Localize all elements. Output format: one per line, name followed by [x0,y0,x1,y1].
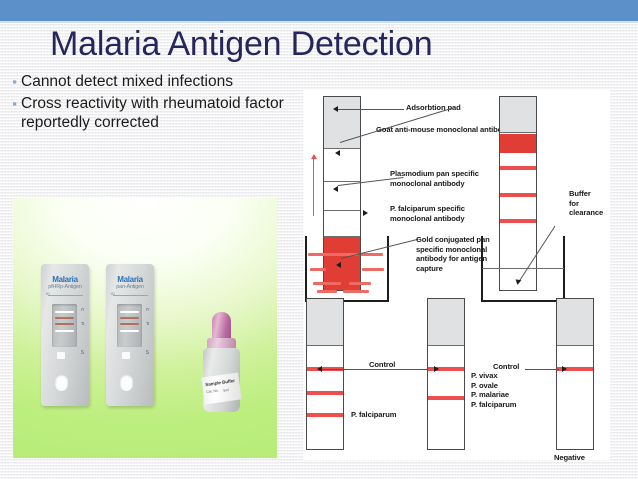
result-band-red [55,323,74,325]
list-item: ▪ Cross reactivity with rheumatoid facto… [8,94,290,132]
pointer-arrow-icon [333,186,338,192]
bullet-marker-icon: ▪ [8,94,21,113]
cassette-result-window [117,304,142,347]
cassette-sample-square [122,352,130,359]
label-control-left: Control [369,360,395,370]
pointer-arrow-icon [562,366,567,372]
result-band-pan [428,396,464,400]
flow-direction-arrow [313,158,314,216]
cassette-sample-square [57,352,65,359]
cassette-result-window [52,304,77,347]
gold-conjugate-dash [362,268,384,271]
cassette-side-label-s: S [146,350,149,356]
bottle-label-catno: Cat. No. [206,388,219,394]
label-falciparum-specific-ab: P. falciparum specific monoclonal antibo… [390,204,465,223]
result-band-red [500,166,536,170]
pointer-arrow-icon [434,366,439,372]
gold-conjugate-dash [310,268,326,271]
list-item: ▪ Cannot detect mixed infections [8,72,290,91]
leader-line [338,109,404,110]
cassette-subtitle-label: pan-Antigen [106,284,154,290]
cassette-id-rule [113,295,148,296]
lateral-flow-principle-diagram: Adsorbtion pad Goat anti-mouse monoclona… [303,90,610,460]
adsorption-pad [557,299,593,346]
top-accent-bar [0,0,638,21]
cassette-id-rule [48,295,83,296]
gold-conjugate-dash [361,253,383,256]
result-strip-pan-species [427,298,465,450]
label-p-falciparum: P. falciparum [351,410,396,420]
adsorption-pad [307,299,343,346]
label-species-list: P. vivax P. ovale P. malariae P. falcipa… [471,371,516,409]
bullet-list: ▪ Cannot detect mixed infections ▪ Cross… [8,72,290,135]
result-band-white [55,330,74,332]
bullet-text: Cross reactivity with rheumatoid factor … [21,94,290,132]
result-band-white [55,311,74,313]
cassette-brand-label: Malaria [41,275,89,284]
pointer-arrow-icon [363,210,368,216]
strip-segment-line [324,210,360,211]
result-band-red [500,193,536,197]
bullet-marker-icon: ▪ [8,72,21,91]
label-control-right: Control [493,362,519,372]
cassette-side-label-c: C [145,308,150,312]
sample-buffer-bottle: Sample Buffer Cat. No. 5ml [199,312,244,412]
test-cassette-pan: Malaria pan-Antigen ID C P S [106,264,154,406]
cassette-side-label-p: P [80,322,85,326]
bullet-text: Cannot detect mixed infections [21,72,290,91]
gold-conjugate-dash [343,290,369,293]
page-title: Malaria Antigen Detection [50,23,520,65]
label-buffer-for-clearance: Buffer for clearance [569,189,603,218]
pointer-arrow-icon [336,262,341,268]
result-band-pan [307,391,343,395]
result-band-red [120,323,139,325]
cassette-subtitle-label: pfHRp-Antigen [41,284,89,290]
label-gold-conjugate: Gold conjugated pan specific monoclonal … [416,235,490,273]
gold-conjugate-dash [313,282,341,285]
cassette-sample-well [55,374,68,391]
result-band-red [120,317,139,319]
adsorption-pad [500,97,536,133]
result-strip-negative [556,298,594,450]
result-band-falciparum [307,413,343,417]
result-strip-falciparum [306,298,344,450]
migrated-red-fill [500,134,536,153]
bottle-label-volume: 5ml [223,388,229,393]
result-band-red [55,317,74,319]
result-band-white [120,330,139,332]
adsorption-pad [428,299,464,346]
pointer-arrow-icon [335,150,340,156]
flow-arrow-head-icon [311,154,317,159]
label-negative: Negative [554,453,585,463]
rapid-test-kit-photo: Malaria pfHRp-Antigen ID C P S Malaria p… [13,198,277,458]
test-cassette-pfhrp: Malaria pfHRp-Antigen ID C P S [41,264,89,406]
cassette-brand-label: Malaria [106,275,154,284]
leader-line [525,369,559,370]
cassette-side-label-p: P [145,322,150,326]
cassette-side-label-s: S [81,350,84,356]
result-band-white [120,311,139,313]
gold-conjugate-dash [317,290,337,293]
bottle-label-title: Sample Buffer [205,378,235,387]
buffer-liquid-level [482,268,564,269]
cassette-side-label-c: C [80,308,85,312]
cassette-sample-well [120,374,133,391]
bottle-label: Sample Buffer Cat. No. 5ml [201,373,241,405]
result-band-red [500,219,536,223]
gold-conjugate-dash [349,282,371,285]
label-pan-specific-ab: Plasmodium pan specific monoclonal antib… [390,169,479,188]
label-goat-anti-mouse: Goat anti-mouse monoclonal antibody [376,125,511,135]
